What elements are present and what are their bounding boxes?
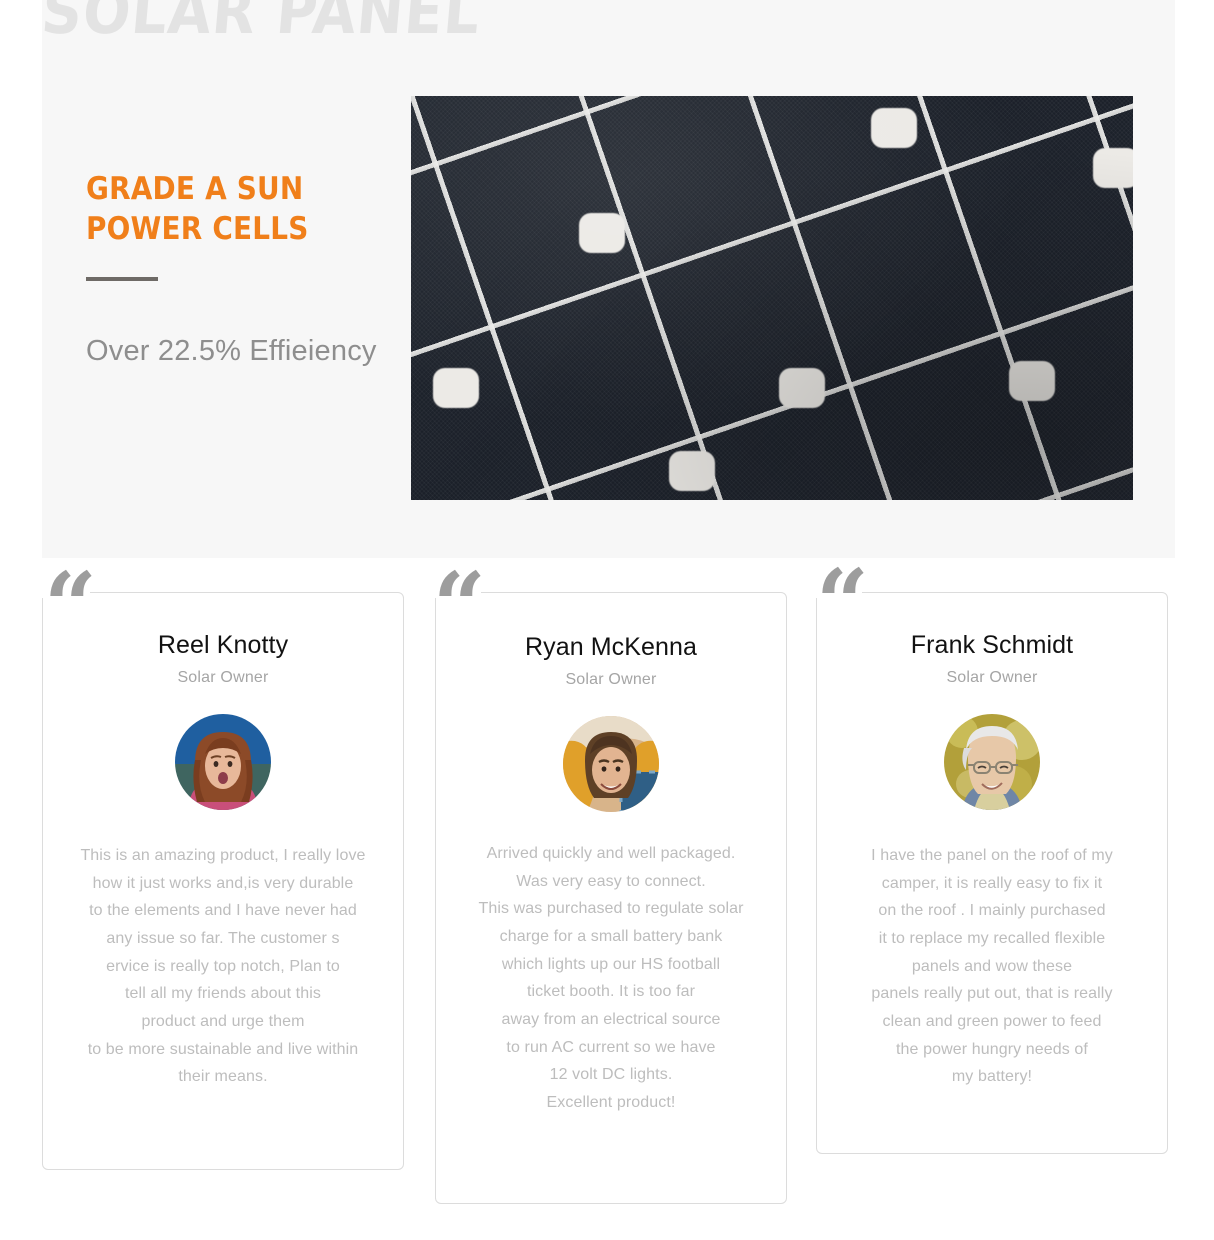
avatar — [944, 714, 1040, 810]
testimonial-body: Reel Knotty Solar Owner — [43, 593, 403, 1091]
testimonial-role: Solar Owner — [835, 669, 1149, 687]
testimonial-text: Arrived quickly and well packaged. Was v… — [454, 840, 768, 1117]
testimonial-card[interactable]: Reel Knotty Solar Owner — [42, 592, 404, 1170]
testimonial-role: Solar Owner — [61, 669, 385, 687]
quote-icon: “ — [433, 560, 486, 652]
hero-heading: GRADE A SUN POWER CELLS — [86, 170, 466, 249]
testimonial-body: Frank Schmidt Solar Owner — [817, 593, 1167, 1091]
panel-light-overlay — [411, 96, 1133, 500]
testimonial-name: Frank Schmidt — [835, 631, 1149, 660]
testimonial-text: This is an amazing product, I really lov… — [61, 842, 385, 1091]
quote-icon: “ — [816, 557, 869, 649]
testimonial-name: Ryan McKenna — [454, 633, 768, 662]
testimonial-name: Reel Knotty — [61, 631, 385, 660]
avatar — [563, 716, 659, 812]
quote-icon: “ — [44, 560, 97, 652]
hero-subheading: Over 22.5% Effieiency — [86, 335, 466, 368]
testimonial-card[interactable]: Ryan McKenna Solar Owner — [435, 592, 787, 1204]
hero-heading-line-1: GRADE A SUN — [86, 170, 466, 210]
testimonial-body: Ryan McKenna Solar Owner — [436, 593, 786, 1117]
hero-copy-block: GRADE A SUN POWER CELLS Over 22.5% Effie… — [86, 170, 466, 368]
testimonial-card[interactable]: Frank Schmidt Solar Owner — [816, 592, 1168, 1154]
solar-panel-photo — [411, 96, 1133, 500]
testimonial-role: Solar Owner — [454, 671, 768, 689]
hero-heading-line-2: POWER CELLS — [86, 210, 466, 250]
testimonial-text: I have the panel on the roof of my campe… — [835, 842, 1149, 1091]
hero-divider — [86, 277, 158, 281]
avatar — [175, 714, 271, 810]
page-title-watermark: SOLAR PANEL — [39, 0, 484, 50]
